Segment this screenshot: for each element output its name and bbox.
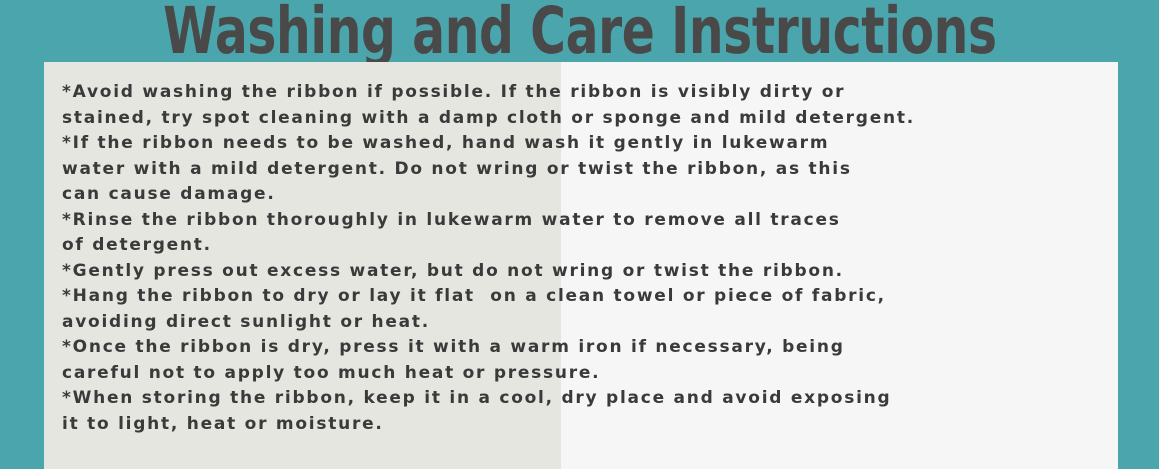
- instruction-line: stained, try spot cleaning with a damp c…: [62, 106, 1108, 132]
- instruction-line: *When storing the ribbon, keep it in a c…: [62, 386, 1108, 412]
- instruction-line: avoiding direct sunlight or heat.: [62, 310, 1108, 336]
- instruction-line: *If the ribbon needs to be washed, hand …: [62, 131, 1108, 157]
- instructions-text-block: *Avoid washing the ribbon if possible. I…: [62, 80, 1108, 437]
- instruction-line: *Hang the ribbon to dry or lay it flat o…: [62, 284, 1108, 310]
- instruction-line: *Avoid washing the ribbon if possible. I…: [62, 80, 1108, 106]
- instruction-line: of detergent.: [62, 233, 1108, 259]
- poster-canvas: Washing and Care Instructions *Avoid was…: [0, 0, 1159, 469]
- page-title: Washing and Care Instructions: [163, 1, 996, 62]
- instruction-line: water with a mild detergent. Do not wrin…: [62, 157, 1108, 183]
- instruction-line: *Gently press out excess water, but do n…: [62, 259, 1108, 285]
- instruction-line: it to light, heat or moisture.: [62, 412, 1108, 438]
- instruction-line: *Once the ribbon is dry, press it with a…: [62, 335, 1108, 361]
- instruction-line: careful not to apply too much heat or pr…: [62, 361, 1108, 387]
- instruction-line: can cause damage.: [62, 182, 1108, 208]
- title-bar: Washing and Care Instructions: [0, 0, 1159, 62]
- instructions-card: *Avoid washing the ribbon if possible. I…: [44, 62, 1118, 469]
- instruction-line: *Rinse the ribbon thoroughly in lukewarm…: [62, 208, 1108, 234]
